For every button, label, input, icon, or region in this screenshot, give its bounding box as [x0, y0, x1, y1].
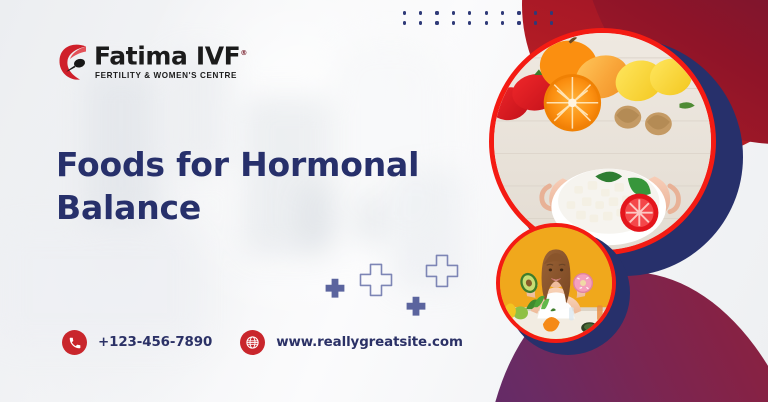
brand-name: Fatima IVF® [94, 40, 234, 69]
registered-mark: ® [240, 49, 247, 57]
fatima-ivf-embryo-swoosh-icon [56, 40, 96, 84]
phone-icon [62, 330, 87, 355]
contact-phone[interactable]: +123-456-7890 [62, 330, 212, 355]
plus-icon-outline-large-right [424, 254, 460, 290]
brand-tagline: FERTILITY & WOMEN'S CENTRE [94, 71, 234, 80]
plus-icon-outline-large-left [358, 263, 394, 299]
healthy-food-photo [489, 28, 716, 255]
brand-logo[interactable]: Fatima IVF® FERTILITY & WOMEN'S CENTRE [56, 40, 232, 86]
woman-with-avocado-and-donut-photo [496, 223, 616, 343]
contact-website[interactable]: www.reallygreatsite.com [240, 330, 463, 355]
page-title-line2: Balance [56, 186, 456, 229]
contact-row: +123-456-7890 www.reallygreatsite.com [62, 330, 463, 355]
plus-icon-solid-small-left [324, 278, 346, 300]
page-title-line1: Foods for Hormonal [56, 143, 456, 186]
dot-grid-decoration [396, 8, 560, 28]
plus-icon-solid-small-right [405, 296, 427, 318]
banner: Fatima IVF® FERTILITY & WOMEN'S CENTRE F… [0, 0, 768, 402]
globe-icon [240, 330, 265, 355]
phone-number: +123-456-7890 [98, 335, 212, 350]
website-url: www.reallygreatsite.com [276, 335, 463, 350]
page-title: Foods for Hormonal Balance [56, 143, 456, 229]
